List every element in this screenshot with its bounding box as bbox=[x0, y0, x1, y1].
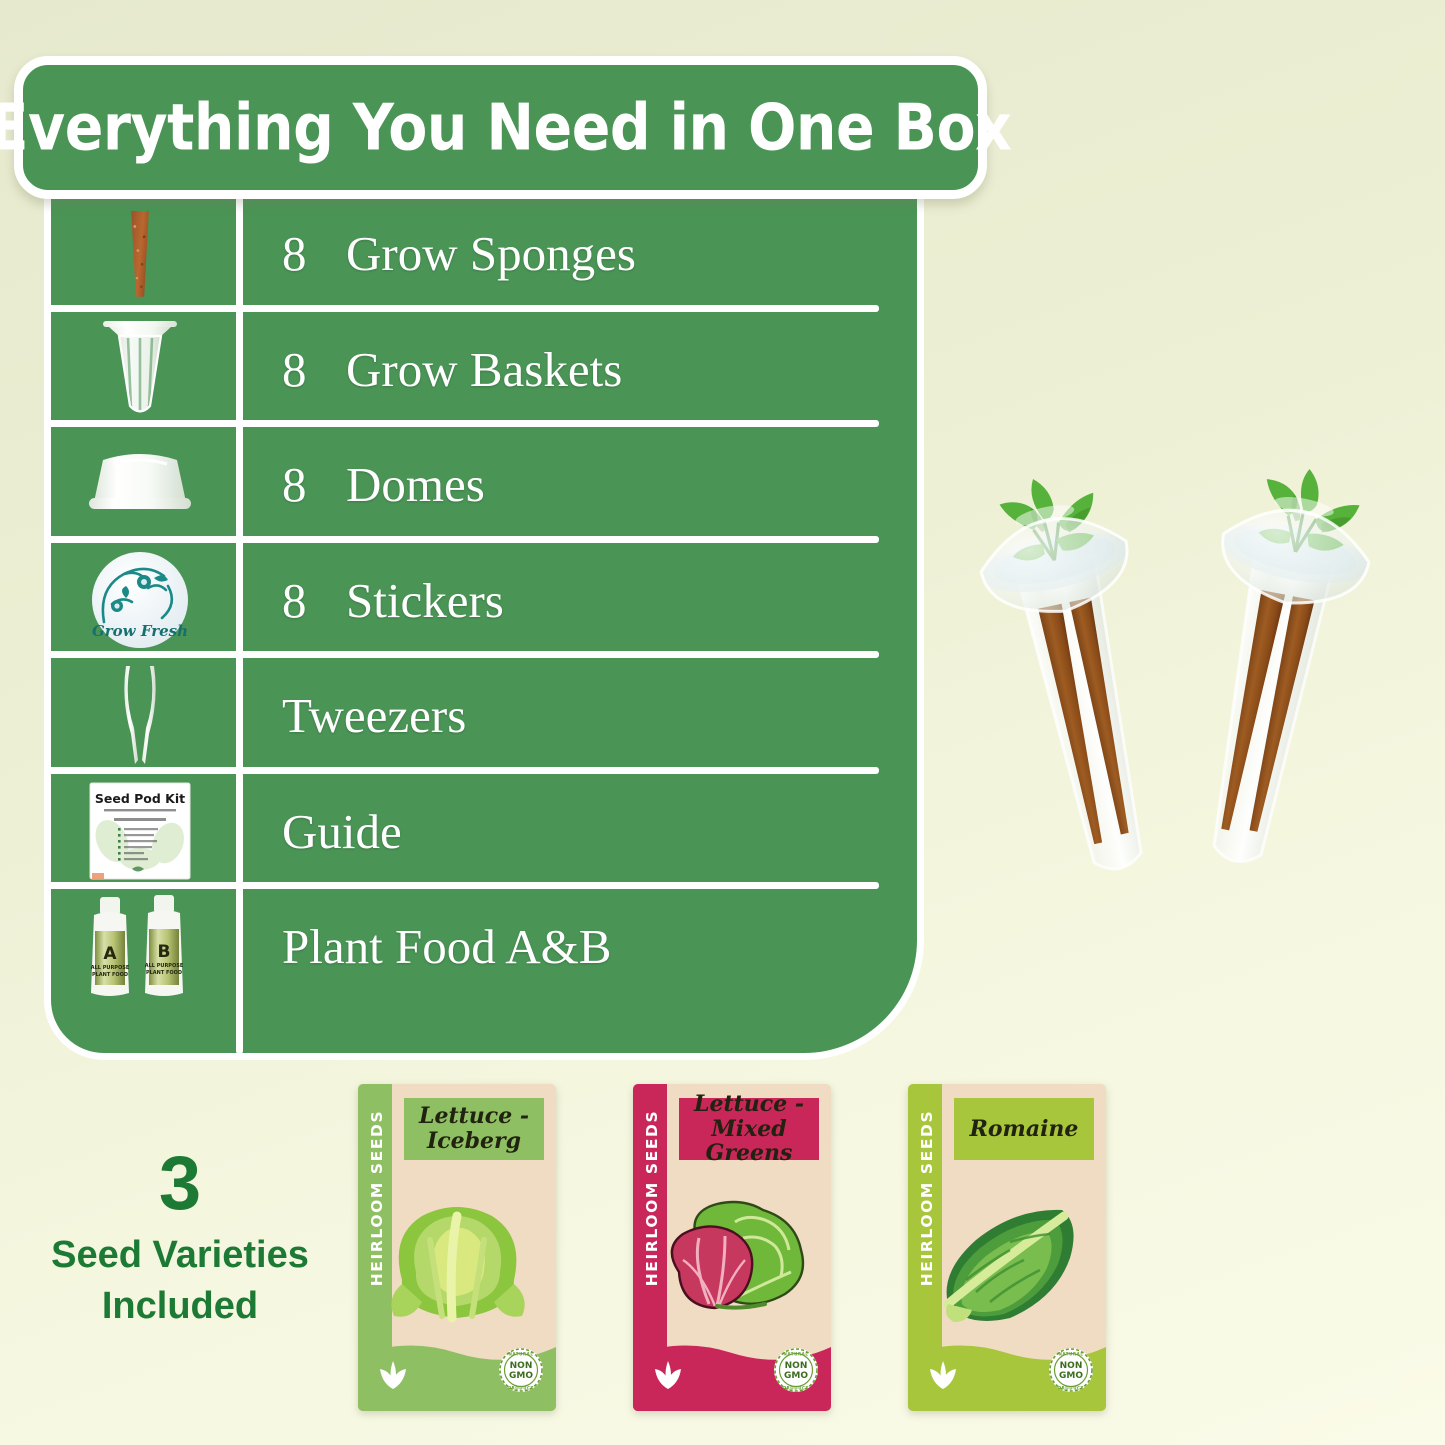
packet-title: Lettuce - Mixed Greens bbox=[685, 1092, 813, 1166]
non-gmo-badge: NON GMO NATURAL PRODUCT bbox=[1048, 1347, 1094, 1393]
list-item-text: Plant Food A&B bbox=[236, 918, 924, 975]
kit-contents-list: 8 Grow Sponges bbox=[44, 196, 924, 1060]
icon-column-divider bbox=[236, 196, 243, 1054]
packet-art-romaine bbox=[914, 1176, 1100, 1348]
row-divider bbox=[44, 882, 879, 889]
svg-text:NATURAL: NATURAL bbox=[1058, 1352, 1083, 1357]
non-gmo-badge: NON GMO NATURAL PRODUCT bbox=[498, 1347, 544, 1393]
dome-icon bbox=[44, 427, 236, 543]
list-item-label: Grow Baskets bbox=[346, 341, 622, 398]
list-item: Grow Fresh 8 Stickers bbox=[44, 543, 924, 659]
non-gmo-badge: NON GMO NATURAL PRODUCT bbox=[773, 1347, 819, 1393]
bottle-b-label: B bbox=[158, 942, 171, 962]
seed-packet-iceberg: HEIRLOOM SEEDS Lettuce - Iceberg NON GMO bbox=[358, 1084, 556, 1411]
list-item-text: 8 Grow Sponges bbox=[236, 225, 924, 282]
list-item-text: 8 Domes bbox=[236, 456, 924, 513]
packet-art-iceberg bbox=[364, 1176, 550, 1348]
grow-sponge-icon bbox=[44, 196, 236, 312]
packet-title-box: Lettuce - Mixed Greens bbox=[679, 1098, 819, 1160]
svg-text:PLANT FOOD: PLANT FOOD bbox=[146, 970, 182, 976]
packet-title-box: Romaine bbox=[954, 1098, 1094, 1160]
svg-text:PRODUCT: PRODUCT bbox=[783, 1386, 809, 1391]
svg-text:PRODUCT: PRODUCT bbox=[508, 1386, 534, 1391]
svg-text:NON: NON bbox=[510, 1361, 533, 1371]
seed-varieties-callout: 3 Seed Varieties Included bbox=[20, 1148, 340, 1333]
page-title: Everything You Need in One Box bbox=[0, 90, 1011, 165]
list-item-text: 8 Grow Baskets bbox=[236, 341, 924, 398]
svg-text:NATURAL: NATURAL bbox=[508, 1352, 533, 1357]
row-divider bbox=[44, 767, 879, 774]
list-item-label: Tweezers bbox=[282, 687, 466, 744]
plant-food-bottles-icon: A ALL PURPOSE PLANT FOOD B ALL PURPOSE P… bbox=[44, 889, 236, 1005]
seed-packet-mixed-greens: HEIRLOOM SEEDS Lettuce - Mixed Greens bbox=[633, 1084, 831, 1411]
svg-text:NON: NON bbox=[785, 1361, 808, 1371]
list-item-label: Plant Food A&B bbox=[282, 918, 611, 975]
tweezers-icon bbox=[44, 658, 236, 774]
list-item: 8 Domes bbox=[44, 427, 924, 543]
sticker-icon: Grow Fresh bbox=[44, 543, 236, 659]
packet-title: Lettuce - Iceberg bbox=[410, 1104, 538, 1153]
leaf-icon bbox=[924, 1359, 962, 1391]
list-item-label: Grow Sponges bbox=[346, 225, 636, 282]
packet-art-mixed-greens bbox=[639, 1176, 825, 1348]
svg-text:NATURAL: NATURAL bbox=[783, 1352, 808, 1357]
leaf-icon bbox=[649, 1359, 687, 1391]
svg-text:GMO: GMO bbox=[784, 1371, 808, 1381]
list-item-qty: 8 bbox=[282, 341, 346, 398]
guide-icon: Seed Pod Kit bbox=[44, 774, 236, 890]
svg-text:PLANT FOOD: PLANT FOOD bbox=[92, 972, 128, 978]
list-item: Tweezers bbox=[44, 658, 924, 774]
bottle-a-label: A bbox=[103, 944, 117, 964]
seed-varieties-line2: Included bbox=[20, 1281, 340, 1332]
list-item-label: Guide bbox=[282, 803, 402, 860]
svg-text:NON: NON bbox=[1060, 1361, 1083, 1371]
list-item: A ALL PURPOSE PLANT FOOD B ALL PURPOSE P… bbox=[44, 889, 924, 1005]
svg-text:GMO: GMO bbox=[1059, 1371, 1083, 1381]
packet-title-box: Lettuce - Iceberg bbox=[404, 1098, 544, 1160]
list-item-label: Stickers bbox=[346, 572, 504, 629]
list-item-text: 8 Stickers bbox=[236, 572, 924, 629]
row-divider bbox=[44, 536, 879, 543]
seed-varieties-line1: Seed Varieties bbox=[20, 1230, 340, 1281]
guide-title: Seed Pod Kit bbox=[95, 791, 185, 806]
list-item: 8 Grow Baskets bbox=[44, 312, 924, 428]
list-item-qty: 8 bbox=[282, 572, 346, 629]
row-divider bbox=[44, 305, 879, 312]
list-item-qty: 8 bbox=[282, 456, 346, 513]
packet-title: Romaine bbox=[970, 1117, 1079, 1142]
svg-text:GMO: GMO bbox=[509, 1371, 533, 1381]
product-photo bbox=[958, 412, 1428, 902]
leaf-icon bbox=[374, 1359, 412, 1391]
row-divider bbox=[44, 420, 879, 427]
svg-text:PRODUCT: PRODUCT bbox=[1058, 1386, 1084, 1391]
seed-packet-romaine: HEIRLOOM SEEDS Romaine bbox=[908, 1084, 1106, 1411]
list-item-text: Guide bbox=[236, 803, 924, 860]
svg-text:ALL PURPOSE: ALL PURPOSE bbox=[145, 963, 184, 969]
svg-text:ALL PURPOSE: ALL PURPOSE bbox=[91, 965, 130, 971]
title-banner: Everything You Need in One Box bbox=[14, 56, 987, 199]
row-divider bbox=[44, 651, 879, 658]
list-item-qty: 8 bbox=[282, 225, 346, 282]
list-item-label: Domes bbox=[346, 456, 485, 513]
list-item: 8 Grow Sponges bbox=[44, 196, 924, 312]
seed-varieties-count: 3 bbox=[20, 1148, 340, 1220]
list-item-text: Tweezers bbox=[236, 687, 924, 744]
sticker-text: Grow Fresh bbox=[92, 622, 188, 640]
list-item: Seed Pod Kit Guid bbox=[44, 774, 924, 890]
grow-basket-icon bbox=[44, 312, 236, 428]
